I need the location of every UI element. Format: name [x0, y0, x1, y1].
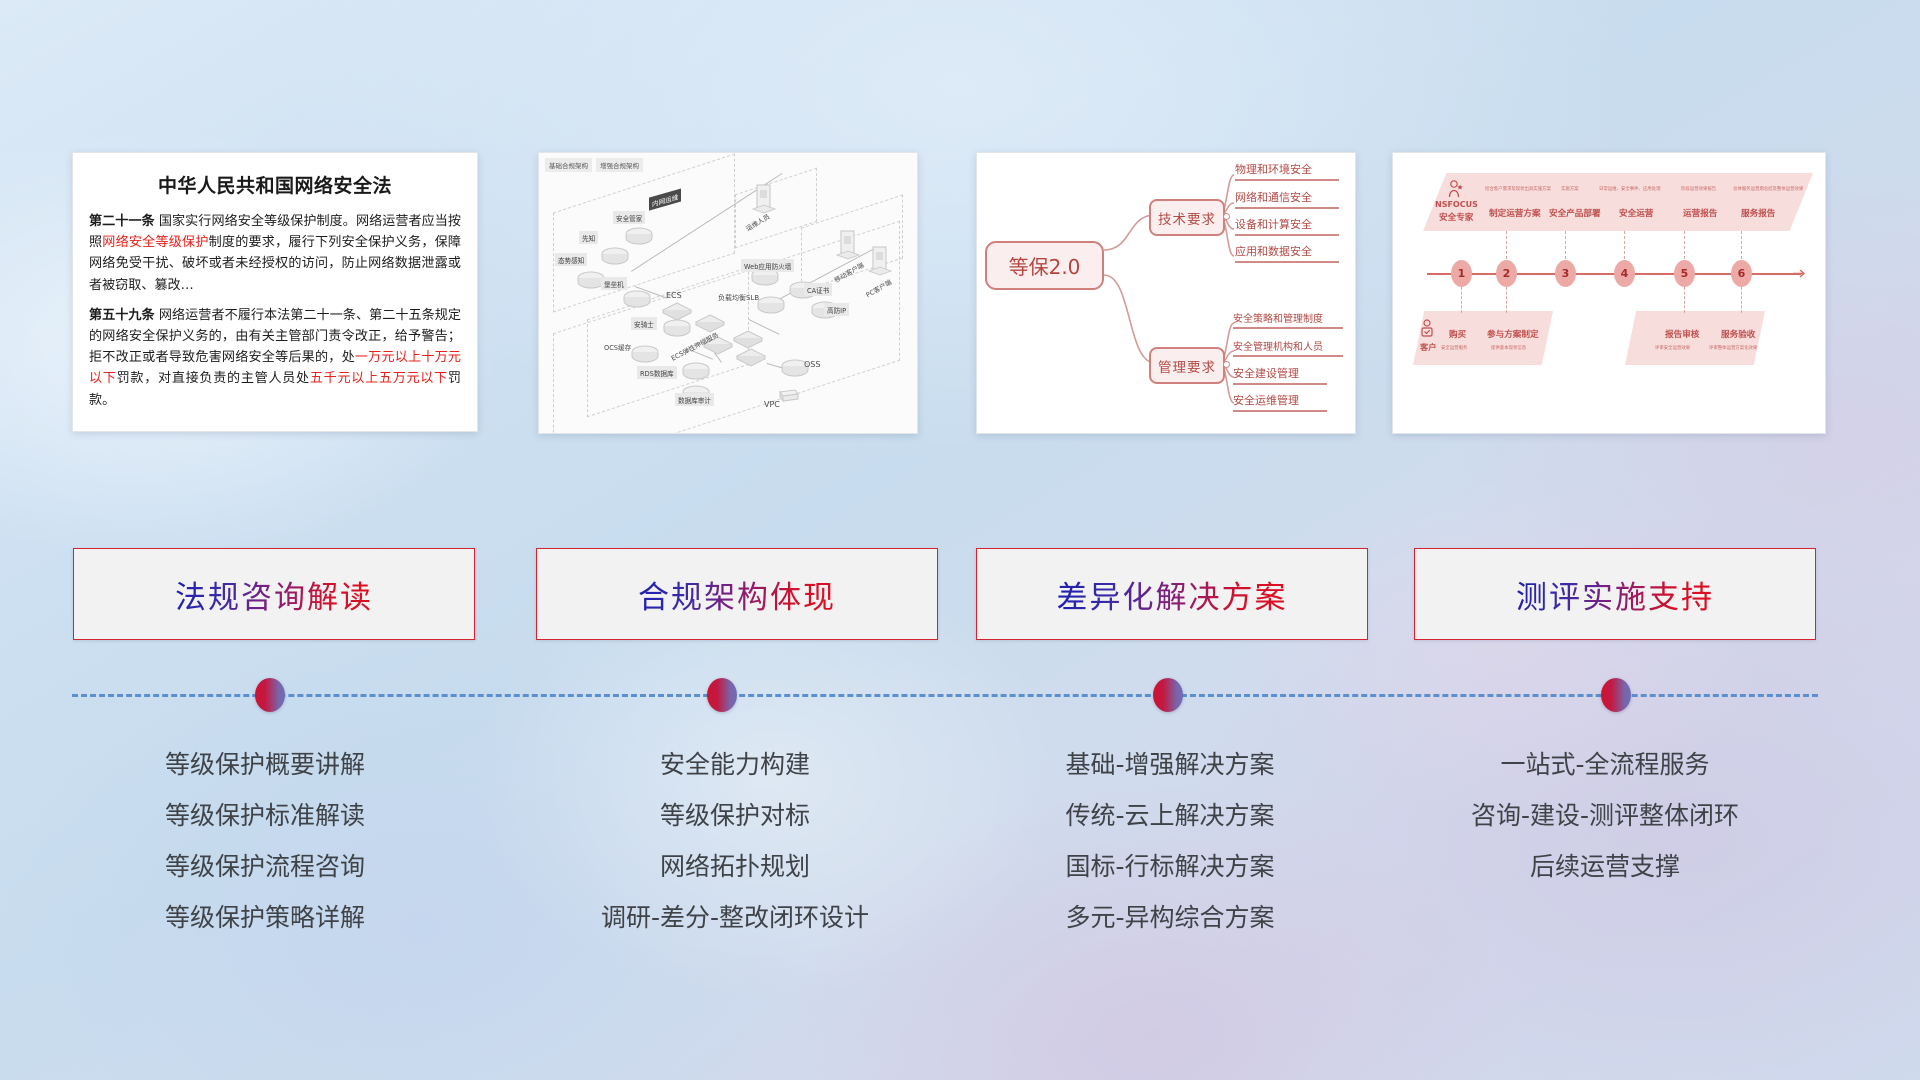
process-node-6: 6 [1731, 260, 1752, 287]
process-leader-b2 [1506, 287, 1507, 313]
architecture-label-ca-certificate: CA证书 [804, 283, 832, 296]
law-article-59-text-2: 罚款，对直接负责的主管人员处 [117, 371, 310, 386]
title-box-2[interactable]: 合规架构体现 [536, 548, 938, 640]
architecture-tab-basic[interactable]: 基础合规架构 [545, 158, 592, 172]
list-item: 网络拓扑规划 [520, 854, 950, 879]
architecture-label-waf: Web应用防火墙 [741, 259, 794, 272]
timeline-dot-2[interactable] [707, 678, 737, 712]
list-item: 等级保护策略详解 [60, 905, 470, 930]
process-leader-2 [1506, 231, 1507, 259]
mindmap-leaf-device-compute: 设备和计算安全 [1235, 216, 1339, 236]
title-box-1-label: 法规咨询解读 [175, 572, 373, 617]
list-column-3: 基础-增强解决方案 传统-云上解决方案 国标-行标解决方案 多元-异构综合方案 [960, 752, 1380, 956]
card-architecture-diagram: 基础合规架构 增强合规架构 [538, 152, 918, 434]
process-node-1: 1 [1451, 260, 1472, 287]
process-step-2-title: 制定运营方案 [1489, 207, 1541, 219]
timeline-dot-3[interactable] [1153, 678, 1183, 712]
mindmap-leaf-ops-mgmt: 安全运维管理 [1233, 392, 1327, 412]
timeline-dot-4[interactable] [1601, 678, 1631, 712]
list-item: 等级保护概要讲解 [60, 752, 470, 777]
process-step-3-sub: 实施方案 [1561, 186, 1579, 192]
architecture-node-shape-10 [735, 347, 767, 372]
process-node-2: 2 [1496, 260, 1517, 287]
title-box-2-label: 合规架构体现 [638, 572, 836, 617]
mindmap-branch-technical-dot [1223, 213, 1230, 220]
list-item: 等级保护标准解读 [60, 803, 470, 828]
architecture-label-anqishi: 安骑士 [631, 317, 657, 330]
law-article-59: 第五十九条 网络运营者不履行本法第二十一条、第二十五条规定的网络安全保护义务的，… [89, 305, 461, 411]
law-article-21-highlight: 网络安全等级保护 [102, 235, 208, 250]
process-bottom-step-4-sub: 评审整体运营方案化效果 [1709, 345, 1757, 351]
card-process-timeline: NSFOCUS 安全专家 结合客户需求及现状出具实施方案 制定运营方案 实施方案… [1392, 152, 1826, 434]
architecture-label-anti-ddos-ip: 高防IP [824, 303, 849, 316]
architecture-label-slb: 负载均衡SLB [715, 291, 762, 304]
mindmap-root-node: 等保2.0 [985, 241, 1104, 290]
title-box-3[interactable]: 差异化解决方案 [976, 548, 1368, 640]
mindmap-leaf-build-mgmt: 安全建设管理 [1233, 365, 1327, 385]
law-title: 中华人民共和国网络安全法 [89, 171, 461, 198]
list-column-1: 等级保护概要讲解 等级保护标准解读 等级保护流程咨询 等级保护策略详解 [60, 752, 470, 956]
architecture-label-situational-awareness: 态势感知 [555, 253, 587, 266]
mindmap-branch-management-dot [1223, 361, 1230, 368]
process-step-3-title: 安全产品部署 [1549, 207, 1601, 219]
title-box-4-label: 测评实施支持 [1516, 572, 1714, 617]
list-column-4: 一站式-全流程服务 咨询-建设-测评整体闭环 后续运营支撑 [1390, 752, 1820, 905]
process-bottom-step-4-title: 服务验收 [1721, 328, 1755, 340]
architecture-label-bastion-host: 堡垒机 [601, 277, 627, 290]
mindmap-leaf-physical-env: 物理和环境安全 [1235, 161, 1339, 181]
process-bottom-step-1-sub: 安全运营服务 [1441, 345, 1467, 351]
architecture-tab-enhanced[interactable]: 增强合规架构 [596, 158, 643, 172]
mindmap-leaf-network-comm: 网络和通信安全 [1235, 189, 1339, 209]
list-item: 调研-差分-整改闭环设计 [520, 905, 950, 930]
process-bottom-step-2-title: 参与方案制定 [1487, 328, 1539, 340]
process-bottom-step-2-sub: 提供基本现状信息 [1491, 345, 1526, 351]
process-step-5-title: 运营报告 [1683, 207, 1717, 219]
process-bottom-step-3-title: 报告审核 [1665, 328, 1699, 340]
process-axis-arrow-icon [1793, 267, 1807, 281]
process-step-6-title: 服务报告 [1741, 207, 1775, 219]
law-article-59-highlight-2: 五千元以上五万元以下 [310, 371, 448, 386]
timeline-line [72, 694, 1818, 697]
mindmap-branch-technical: 技术要求 [1149, 199, 1225, 236]
title-box-4[interactable]: 测评实施支持 [1414, 548, 1816, 640]
list-item: 国标-行标解决方案 [960, 854, 1380, 879]
process-leader-b1 [1461, 287, 1462, 313]
list-item: 后续运营支撑 [1390, 854, 1820, 879]
list-item: 一站式-全流程服务 [1390, 752, 1820, 777]
list-item: 等级保护对标 [520, 803, 950, 828]
architecture-label-oss: OSS [801, 358, 823, 370]
law-article-59-label: 第五十九条 [89, 308, 155, 323]
process-node-4: 4 [1614, 260, 1635, 287]
title-box-1[interactable]: 法规咨询解读 [73, 548, 475, 640]
law-article-21: 第二十一条 国家实行网络安全等级保护制度。网络运营者应当按照网络安全等级保护制度… [89, 211, 461, 296]
process-expert-label-line2: 安全专家 [1439, 211, 1473, 223]
process-expert-label-line1: NSFOCUS [1435, 200, 1478, 209]
architecture-label-ecs: ECS [663, 289, 685, 301]
process-leader-b4 [1741, 287, 1742, 313]
list-item: 基础-增强解决方案 [960, 752, 1380, 777]
process-expert-icon [1447, 179, 1465, 199]
mindmap-leaf-policy-system: 安全策略和管理制度 [1233, 310, 1343, 329]
process-step-5-sub: 阶段运营效果报告 [1681, 186, 1716, 192]
process-step-4-sub: 日常运维、安全事件、应用处理 [1599, 186, 1660, 192]
process-node-3: 3 [1555, 260, 1576, 287]
process-step-6-sub: 总体服务运营期总结及整体运营效果 [1733, 186, 1803, 192]
architecture-label-ocs-cache: OCS缓存 [601, 340, 634, 353]
process-step-2-sub: 结合客户需求及现状出具实施方案 [1485, 186, 1551, 192]
timeline-dot-1[interactable] [255, 678, 285, 712]
architecture-node-shape-12 [682, 362, 710, 385]
architecture-label-security-butler: 安全管家 [613, 211, 645, 224]
process-customer-label: 客户 [1420, 341, 1436, 353]
card-mindmap: 等保2.0 技术要求 管理要求 物理和环境安全 网络和通信安全 设备和计算安全 … [976, 152, 1356, 434]
list-item: 传统-云上解决方案 [960, 803, 1380, 828]
card-law-text: 中华人民共和国网络安全法 第二十一条 国家实行网络安全等级保护制度。网络运营者应… [72, 152, 478, 432]
process-leader-4 [1624, 231, 1625, 259]
mindmap-branch-management: 管理要求 [1149, 347, 1225, 384]
architecture-tabs: 基础合规架构 增强合规架构 [545, 158, 643, 172]
architecture-node-shape-1 [625, 227, 653, 250]
architecture-label-rds-database: RDS数据库 [637, 366, 677, 379]
process-bottom-step-1-title: 购买 [1449, 328, 1466, 340]
architecture-node-shape-4 [623, 290, 651, 313]
process-customer-icon [1419, 319, 1435, 339]
mindmap-leaf-app-data: 应用和数据安全 [1235, 243, 1339, 263]
process-leader-6 [1741, 231, 1742, 259]
list-item: 等级保护流程咨询 [60, 854, 470, 879]
list-column-2: 安全能力构建 等级保护对标 网络拓扑规划 调研-差分-整改闭环设计 [520, 752, 950, 956]
law-article-21-label: 第二十一条 [89, 214, 155, 229]
process-leader-5 [1684, 231, 1685, 259]
mindmap-leaf-org-personnel: 安全管理机构和人员 [1233, 338, 1343, 357]
title-box-3-label: 差异化解决方案 [1057, 572, 1288, 617]
architecture-node-shape-2 [601, 247, 629, 270]
architecture-label-vpc: VPC [761, 398, 783, 410]
process-node-5: 5 [1674, 260, 1695, 287]
process-top-banner [1423, 173, 1813, 231]
process-leader-b3 [1684, 287, 1685, 313]
process-leader-3 [1565, 231, 1566, 259]
process-step-4-title: 安全运营 [1619, 207, 1653, 219]
architecture-label-xianzhi: 先知 [579, 231, 598, 244]
list-item: 多元-异构综合方案 [960, 905, 1380, 930]
list-item: 咨询-建设-测评整体闭环 [1390, 803, 1820, 828]
architecture-node-shape-11 [631, 345, 659, 368]
architecture-label-database-audit: 数据库审计 [675, 393, 714, 406]
process-bottom-step-3-sub: 评审安全运营效果 [1655, 345, 1690, 351]
architecture-node-shape-6 [663, 319, 691, 342]
list-item: 安全能力构建 [520, 752, 950, 777]
